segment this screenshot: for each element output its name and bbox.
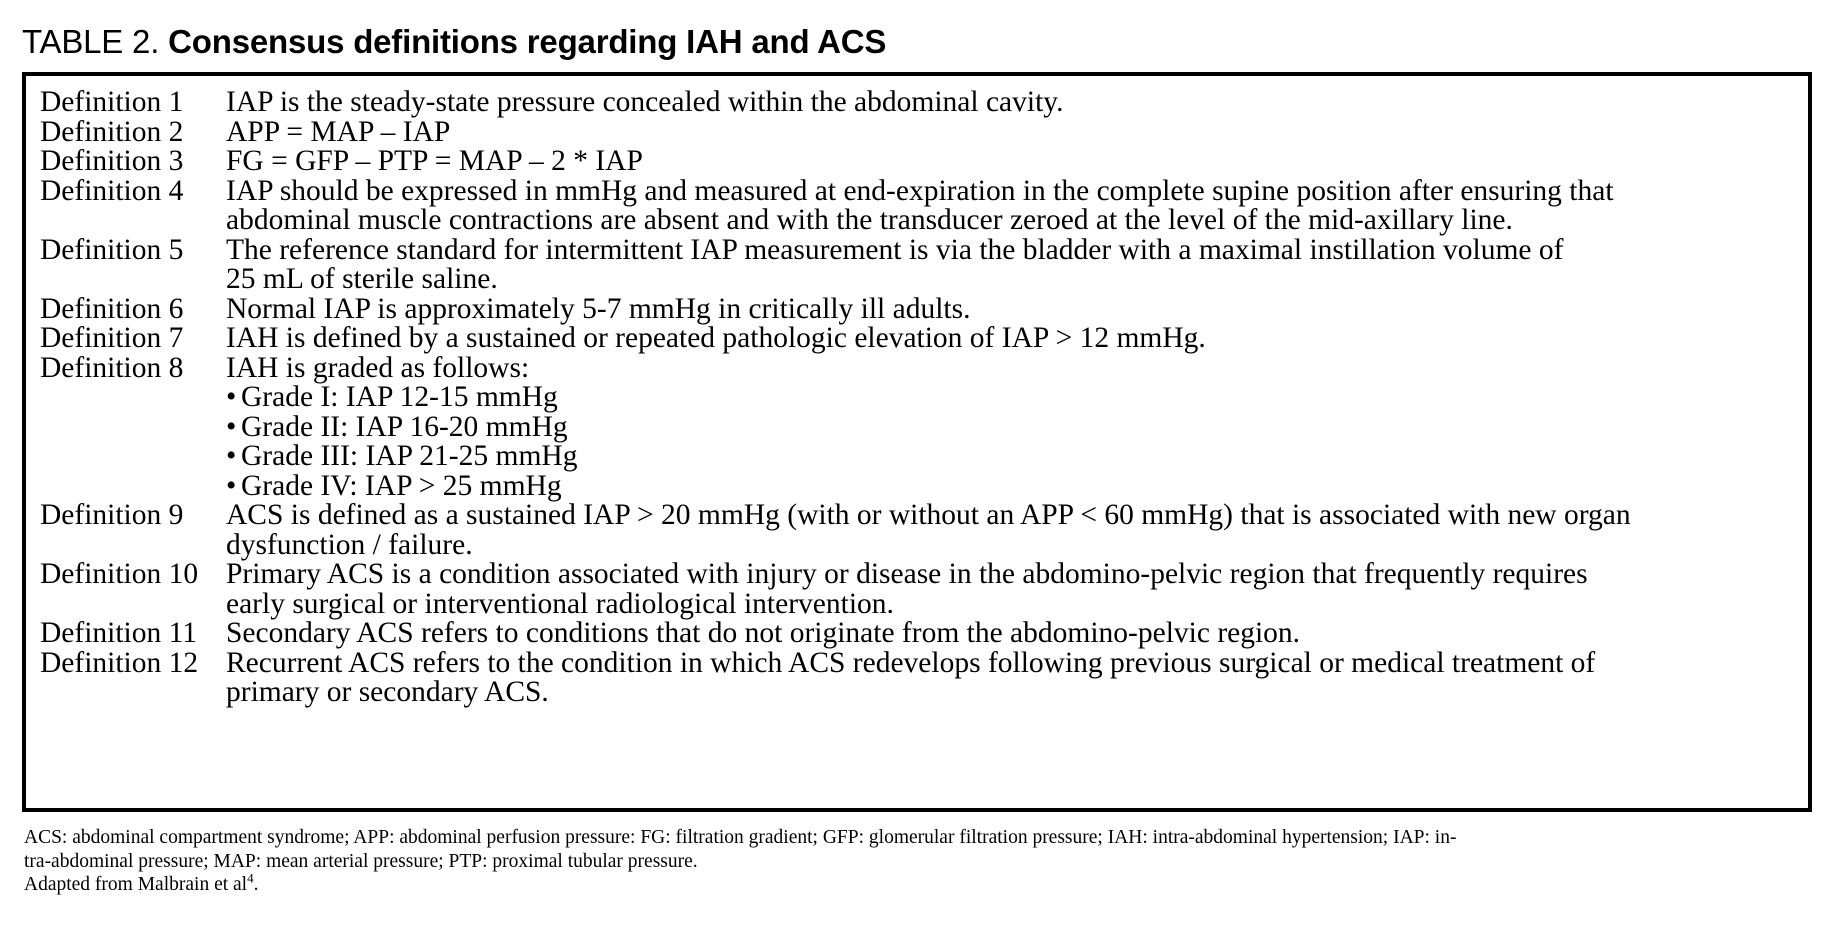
table-row: Definition 5 The reference standard for … xyxy=(26,236,1808,295)
list-item: •Grade III: IAP 21-25 mmHg xyxy=(226,442,1802,472)
definition-line: ACS is defined as a sustained IAP > 20 m… xyxy=(226,501,1802,531)
definition-term: Definition 11 xyxy=(26,619,226,649)
definition-term: Definition 2 xyxy=(26,118,226,148)
definition-line: IAP is the steady-state pressure conceal… xyxy=(226,88,1802,118)
table-row: Definition 12 Recurrent ACS refers to th… xyxy=(26,649,1808,708)
definition-description: ACS is defined as a sustained IAP > 20 m… xyxy=(226,501,1808,560)
definition-line: IAP should be expressed in mmHg and meas… xyxy=(226,177,1802,207)
definition-line: Secondary ACS refers to conditions that … xyxy=(226,619,1802,649)
definition-line: Recurrent ACS refers to the condition in… xyxy=(226,649,1802,679)
grade-label: Grade I: IAP 12-15 mmHg xyxy=(241,381,558,413)
definition-term: Definition 5 xyxy=(26,236,226,266)
table-row: Definition 7 IAH is defined by a sustain… xyxy=(26,324,1808,354)
bullet-icon: • xyxy=(226,442,241,472)
definition-description: APP = MAP – IAP xyxy=(226,118,1808,148)
definition-line: 25 mL of sterile saline. xyxy=(226,265,1802,295)
grade-label: Grade IV: IAP > 25 mmHg xyxy=(241,470,562,502)
table-figure-page: TABLE 2. Consensus definitions regarding… xyxy=(0,0,1834,936)
definition-line: Primary ACS is a condition associated wi… xyxy=(226,560,1802,590)
table-row: Definition 9 ACS is defined as a sustain… xyxy=(26,501,1808,560)
table-row: Definition 2 APP = MAP – IAP xyxy=(26,118,1808,148)
definition-line: primary or secondary ACS. xyxy=(226,678,1802,708)
definition-line: APP = MAP – IAP xyxy=(226,118,1802,148)
definition-description: IAP is the steady-state pressure conceal… xyxy=(226,88,1808,118)
abbreviations-line-2: tra-abdominal pressure; MAP: mean arteri… xyxy=(24,850,1816,874)
definition-description: IAH is defined by a sustained or repeate… xyxy=(226,324,1808,354)
page-title: TABLE 2. Consensus definitions regarding… xyxy=(22,22,1812,62)
definition-term: Definition 1 xyxy=(26,88,226,118)
definition-description: IAP should be expressed in mmHg and meas… xyxy=(226,177,1808,236)
definition-line: early surgical or interventional radiolo… xyxy=(226,590,1802,620)
bullet-icon: • xyxy=(226,472,241,502)
definition-description: IAH is graded as follows: •Grade I: IAP … xyxy=(226,354,1808,502)
source-text: Adapted from Malbrain et al xyxy=(24,874,247,895)
definition-term: Definition 8 xyxy=(26,354,226,384)
definition-description: Primary ACS is a condition associated wi… xyxy=(226,560,1808,619)
source-period: . xyxy=(254,874,259,895)
table-footnotes: ACS: abdominal compartment syndrome; APP… xyxy=(24,826,1816,897)
definition-term: Definition 9 xyxy=(26,501,226,531)
definition-term: Definition 3 xyxy=(26,147,226,177)
table-row: Definition 4 IAP should be expressed in … xyxy=(26,177,1808,236)
grade-list: •Grade I: IAP 12-15 mmHg •Grade II: IAP … xyxy=(226,383,1802,501)
definition-description: The reference standard for intermittent … xyxy=(226,236,1808,295)
table-row: Definition 8 IAH is graded as follows: •… xyxy=(26,354,1808,502)
grade-label: Grade III: IAP 21-25 mmHg xyxy=(241,440,577,472)
grade-label: Grade II: IAP 16-20 mmHg xyxy=(241,411,568,443)
source-attribution: Adapted from Malbrain et al4. xyxy=(24,873,1816,897)
definition-term: Definition 7 xyxy=(26,324,226,354)
definition-line: IAH is graded as follows: xyxy=(226,354,1802,384)
table-row: Definition 6 Normal IAP is approximately… xyxy=(26,295,1808,325)
definition-term: Definition 6 xyxy=(26,295,226,325)
definition-description: Normal IAP is approximately 5-7 mmHg in … xyxy=(226,295,1808,325)
definitions-table: Definition 1 IAP is the steady-state pre… xyxy=(22,72,1812,812)
list-item: •Grade II: IAP 16-20 mmHg xyxy=(226,413,1802,443)
bullet-icon: • xyxy=(226,383,241,413)
table-caption: Consensus definitions regarding IAH and … xyxy=(168,23,886,60)
definition-line: IAH is defined by a sustained or repeate… xyxy=(226,324,1802,354)
definition-description: Secondary ACS refers to conditions that … xyxy=(226,619,1808,649)
table-row: Definition 3 FG = GFP – PTP = MAP – 2 * … xyxy=(26,147,1808,177)
definition-term: Definition 10 xyxy=(26,560,226,590)
definition-description: Recurrent ACS refers to the condition in… xyxy=(226,649,1808,708)
definition-line: Normal IAP is approximately 5-7 mmHg in … xyxy=(226,295,1802,325)
table-row: Definition 10 Primary ACS is a condition… xyxy=(26,560,1808,619)
table-row: Definition 1 IAP is the steady-state pre… xyxy=(26,88,1808,118)
table-row: Definition 11 Secondary ACS refers to co… xyxy=(26,619,1808,649)
bullet-icon: • xyxy=(226,413,241,443)
list-item: •Grade IV: IAP > 25 mmHg xyxy=(226,472,1802,502)
table-number-label: TABLE 2. xyxy=(22,23,159,60)
abbreviations-line-1: ACS: abdominal compartment syndrome; APP… xyxy=(24,826,1816,850)
definition-line: dysfunction / failure. xyxy=(226,531,1802,561)
definition-term: Definition 12 xyxy=(26,649,226,679)
definition-term: Definition 4 xyxy=(26,177,226,207)
list-item: •Grade I: IAP 12-15 mmHg xyxy=(226,383,1802,413)
definition-line: The reference standard for intermittent … xyxy=(226,236,1802,266)
table-body: Definition 1 IAP is the steady-state pre… xyxy=(26,76,1808,718)
definition-line: abdominal muscle contractions are absent… xyxy=(226,206,1802,236)
definition-description: FG = GFP – PTP = MAP – 2 * IAP xyxy=(226,147,1808,177)
definition-line: FG = GFP – PTP = MAP – 2 * IAP xyxy=(226,147,1802,177)
